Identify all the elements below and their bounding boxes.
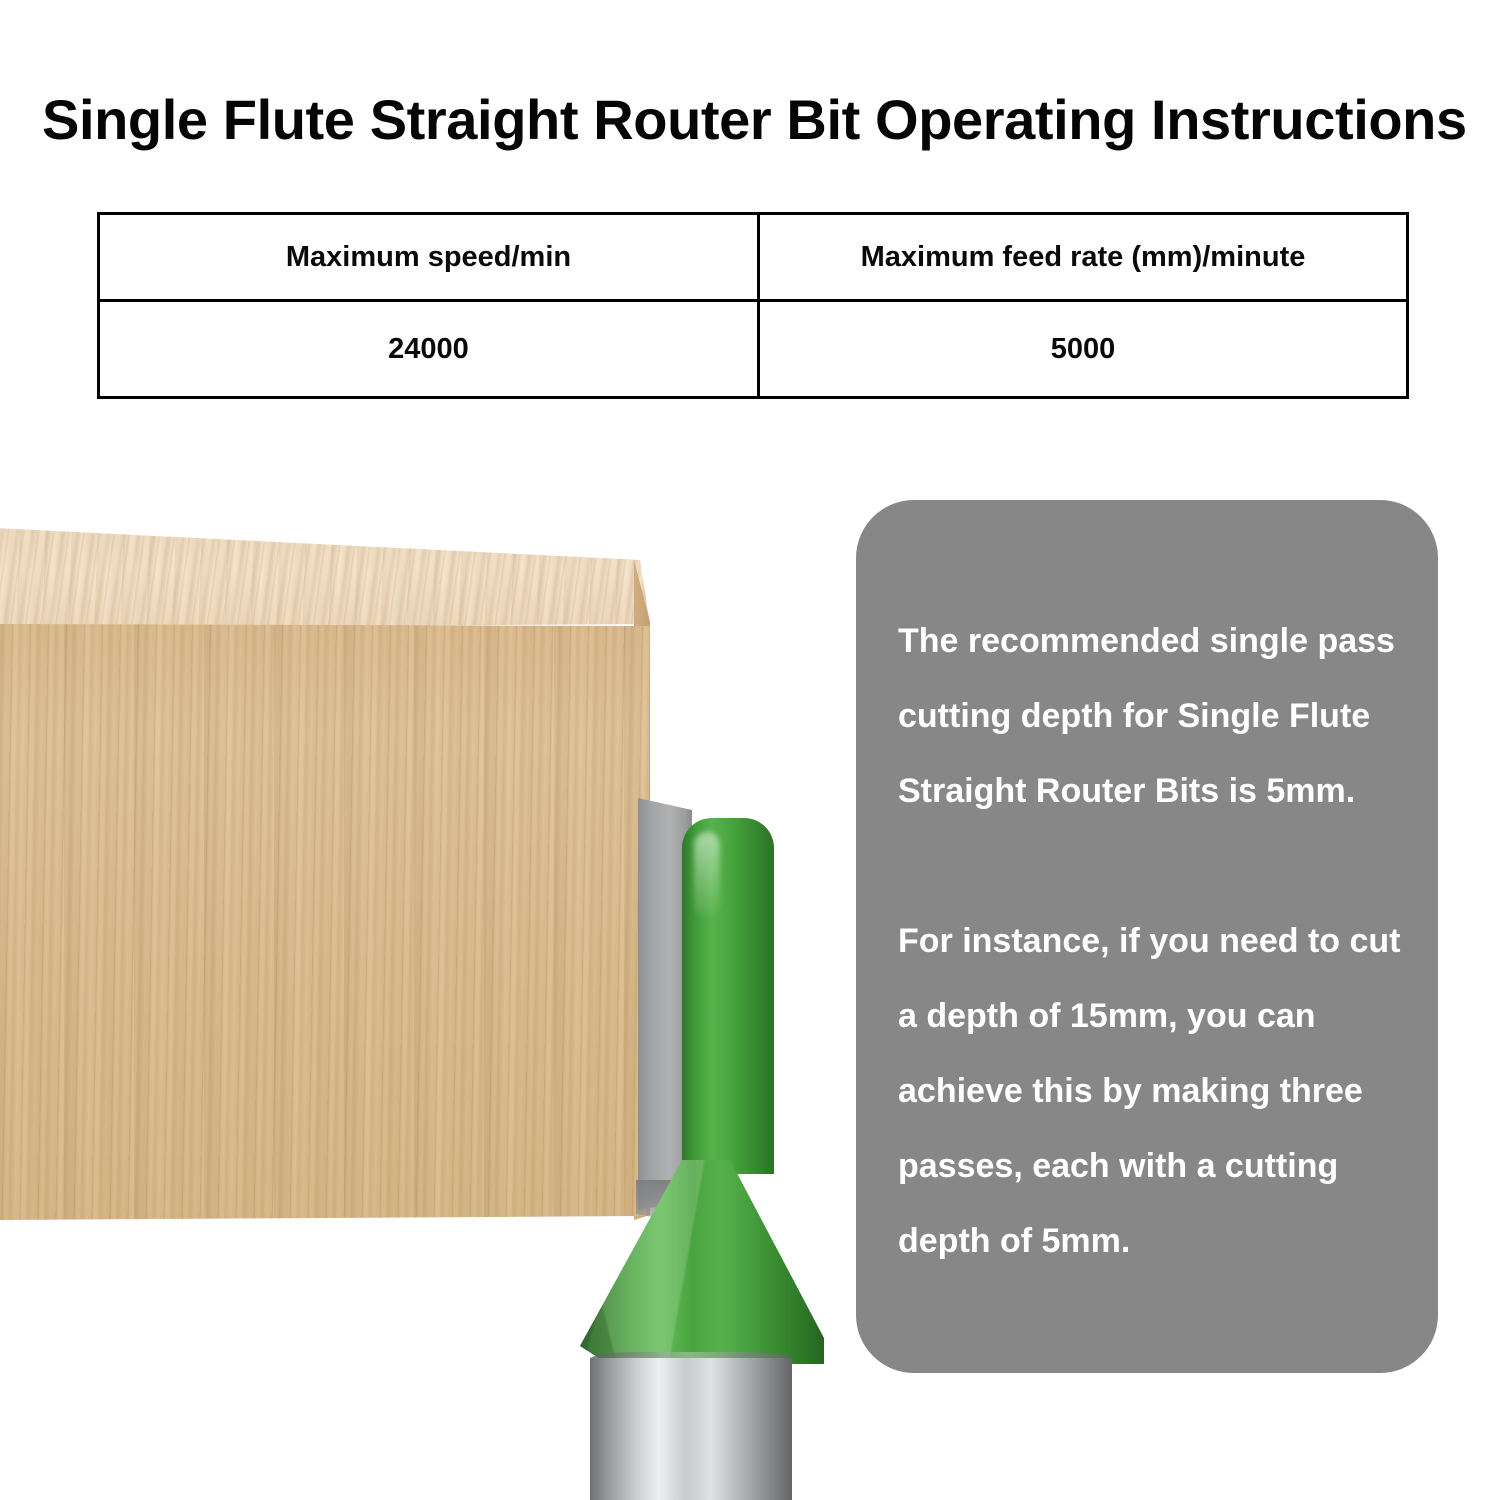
wood-block-top-face [0, 520, 650, 640]
single-flute-straight-router-bit [560, 780, 860, 1500]
router-bit-highlight [694, 832, 720, 918]
router-bit-cone-facets [580, 1160, 824, 1364]
router-bit-shank [590, 1358, 792, 1500]
info-panel-text: The recommended single pass cutting dept… [898, 604, 1410, 1279]
info-panel: The recommended single pass cutting dept… [856, 500, 1438, 1373]
wood-block-front-face [0, 624, 650, 1220]
info-paragraph-example: For instance, if you need to cut a depth… [898, 904, 1410, 1279]
info-paragraph-recommended-depth: The recommended single pass cutting dept… [898, 604, 1410, 829]
product-illustration [0, 0, 860, 1030]
oak-wood-block [0, 520, 650, 1220]
